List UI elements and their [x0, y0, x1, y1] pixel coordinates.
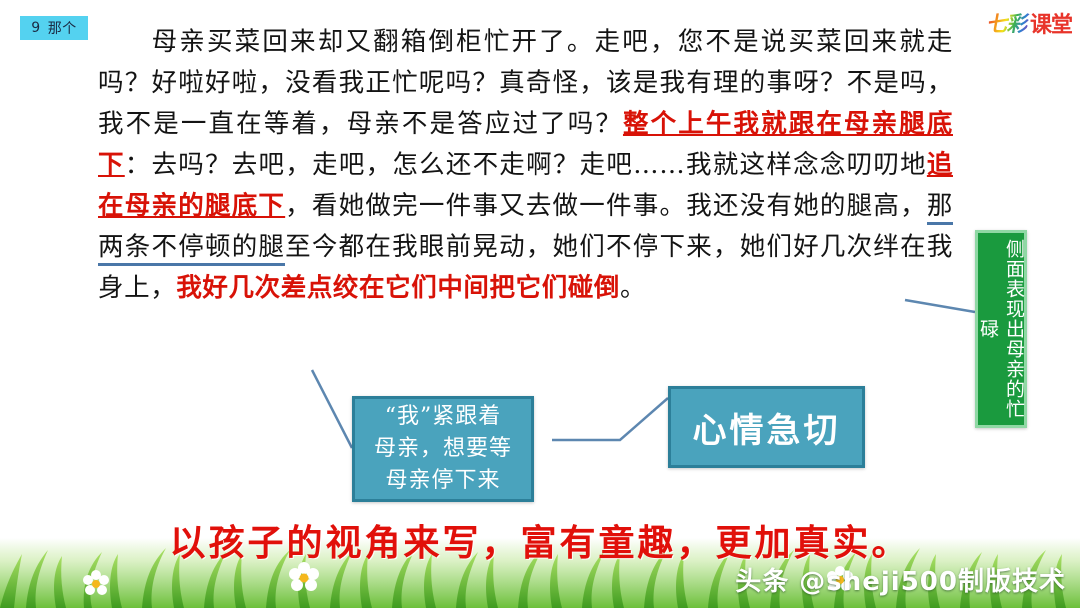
- brand-logo: 七彩 课堂: [988, 6, 1072, 40]
- callout-box-mood[interactable]: 心情急切: [668, 386, 865, 468]
- chapter-title: 那个: [48, 18, 77, 38]
- passage-text: 母亲买菜回来却又翻箱倒柜忙开了。走吧，您不是说买菜回来就走吗？好啦好啦，没看我正…: [98, 22, 953, 309]
- slide-canvas: 9 那个 七彩 课堂 母亲买菜回来却又翻箱倒柜忙开了。走吧，您不是说买菜回来就走…: [0, 0, 1080, 608]
- callout-box-side-detail[interactable]: 侧面表现出母亲的忙碌: [975, 230, 1027, 428]
- conclusion-banner: 以孩子的视角来写，富有童趣，更加真实。: [0, 514, 1080, 566]
- callout-box-narration[interactable]: “我”紧跟着 母亲，想要等 母亲停下来: [352, 396, 534, 502]
- passage-segment-7-red: 我好几次差点绞在它们中间把它们碰倒: [176, 273, 620, 303]
- brand-rainbow-text: 七彩: [985, 8, 1030, 38]
- connector-to-teal-right-box: [552, 398, 668, 440]
- connector-to-teal-left-box: [312, 370, 352, 448]
- chapter-tab[interactable]: 9 那个: [20, 16, 88, 40]
- brand-classroom-text: 课堂: [1030, 7, 1072, 39]
- watermark-text: 头条 @sheji500制版技术: [735, 561, 1066, 598]
- passage-segment-4: ，看她做完一件事又去做一件事。我还没有她的腿高，: [285, 191, 927, 221]
- callout-side-detail-text: 侧面表现出母亲的忙碌: [975, 239, 1027, 419]
- callout-mood-text: 心情急切: [693, 403, 841, 452]
- passage-segment-2: ：去吗？去吧，走吧，怎么还不走啊？走吧……我就这样念念叨叨地: [125, 150, 927, 180]
- passage-segment-8: 。: [620, 273, 646, 303]
- callout-narration-text: “我”紧跟着 母亲，想要等 母亲停下来: [374, 401, 512, 497]
- chapter-number: 9: [31, 20, 40, 36]
